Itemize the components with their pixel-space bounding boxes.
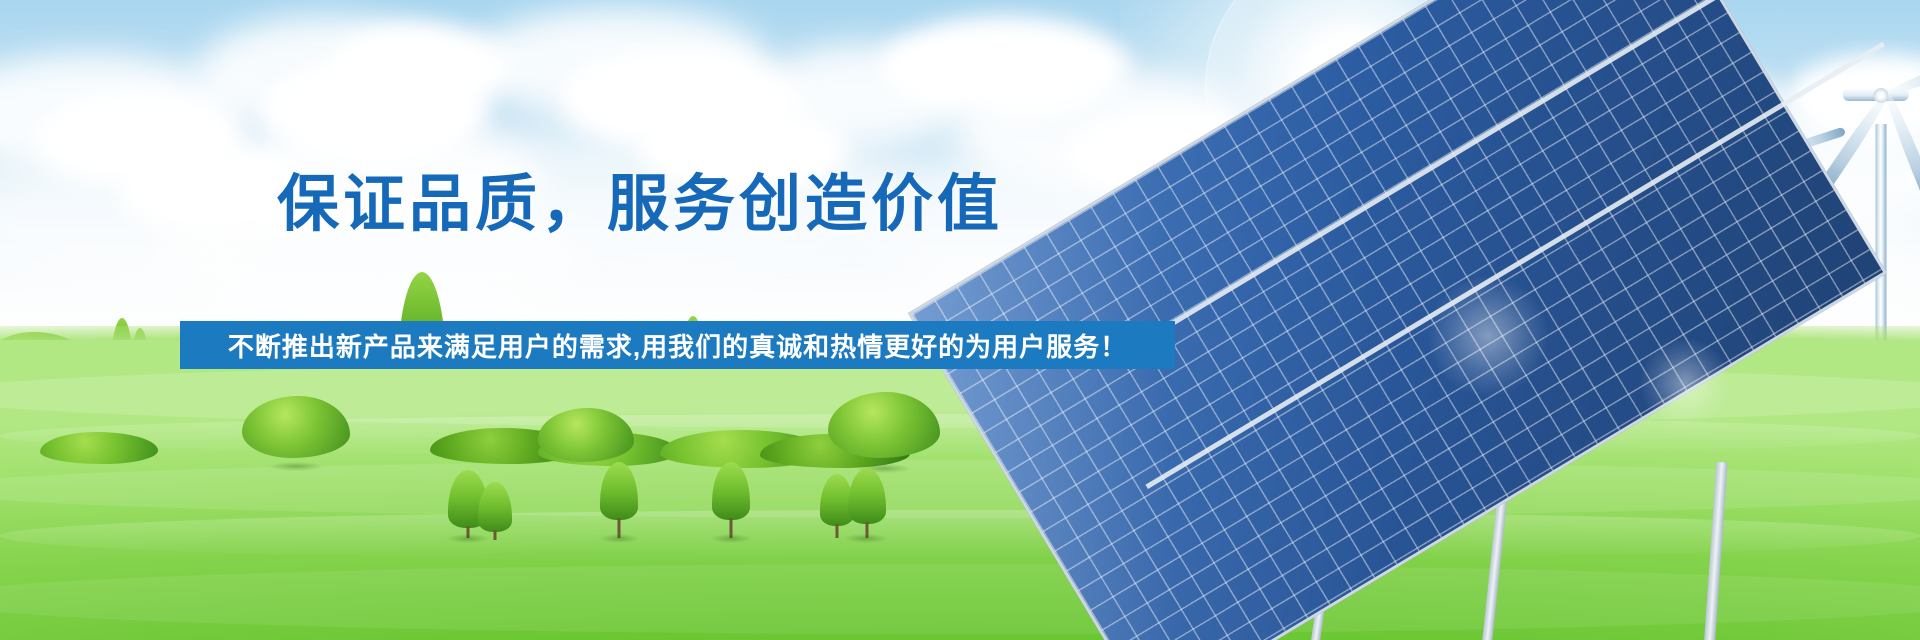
solar-panel-glare: [1640, 338, 1730, 428]
hero-banner: 保证品质，服务创造价值 不断推出新产品来满足用户的需求,用我们的真诚和热情更好的…: [0, 0, 1920, 640]
sapling-tree-shape: [600, 462, 638, 538]
bush-tree-shape: [242, 396, 350, 458]
solar-panel-array: [1170, 252, 1920, 640]
tree-shadow: [844, 534, 888, 543]
sapling-tree-shape: [478, 482, 512, 540]
subtitle-bar: 不断推出新产品来满足用户的需求,用我们的真诚和热情更好的为用户服务！: [180, 321, 1175, 369]
field-bush-shape: [40, 432, 158, 464]
tree-shadow: [269, 462, 323, 471]
solar-panel-glare: [1428, 276, 1548, 396]
page-title: 保证品质，服务创造价值: [0, 170, 1280, 240]
tree-shadow: [599, 534, 639, 543]
tree-shadow: [711, 534, 751, 543]
sapling-tree-shape: [712, 462, 750, 538]
sapling-tree-shape: [848, 468, 886, 538]
solar-panel-leg: [1703, 462, 1727, 640]
bush-tree-shape: [538, 408, 634, 462]
subtitle-text: 不断推出新产品来满足用户的需求,用我们的真诚和热情更好的为用户服务！: [180, 321, 1175, 369]
bush-tree-shape: [828, 392, 940, 458]
